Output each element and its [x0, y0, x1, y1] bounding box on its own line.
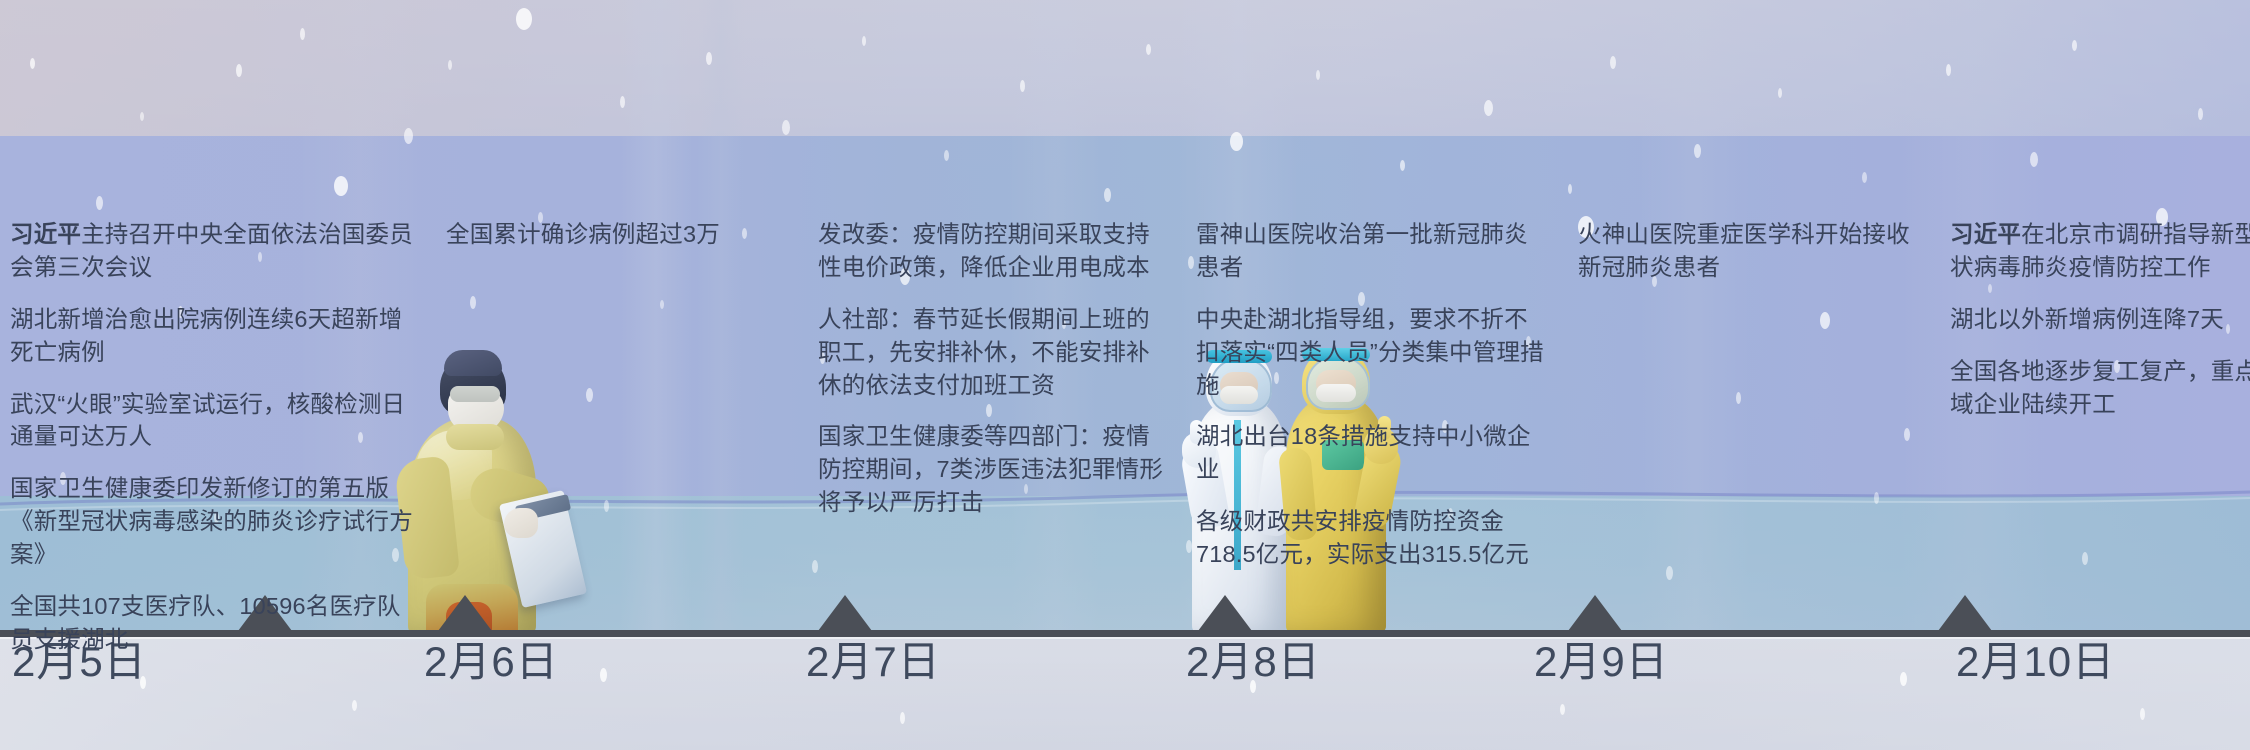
entry-text: 人社部：春节延长假期间上班的职工，先安排补休，不能安排补休的依法支付加班工资 — [818, 306, 1150, 398]
timeline-entry: 中央赴湖北指导组，要求不折不扣落实“四类人员”分类集中管理措施 — [1196, 303, 1544, 402]
timeline-column-feb-7: 发改委：疫情防控期间采取支持性电价政策，降低企业用电成本 人社部：春节延长假期间… — [818, 218, 1170, 519]
timeline-column-feb-8: 雷神山医院收治第一批新冠肺炎患者 中央赴湖北指导组，要求不折不扣落实“四类人员”… — [1196, 218, 1544, 571]
timeline-entry: 火神山医院重症医学科开始接收新冠肺炎患者 — [1578, 218, 1926, 284]
entry-text: 武汉“火眼”实验室试运行，核酸检测日通量可达万人 — [10, 391, 405, 450]
date-label-feb-7[interactable]: 2月7日 — [806, 641, 941, 683]
entry-text: 湖北出台18条措施支持中小微企业 — [1196, 423, 1531, 482]
entry-text: 火神山医院重症医学科开始接收新冠肺炎患者 — [1578, 221, 1910, 280]
date-label-feb-9[interactable]: 2月9日 — [1534, 641, 1669, 683]
entry-text: 全国各地逐步复工复产，重点领域企业陆续开工 — [1950, 358, 2250, 417]
entry-text: 国家卫生健康委印发新修订的第五版《新型冠状病毒感染的肺炎诊疗试行方案》 — [10, 475, 413, 567]
timeline-tick-marker — [1568, 595, 1622, 631]
entry-text: 国家卫生健康委等四部门：疫情防控期间，7类涉医违法犯罪情形将予以严厉打击 — [818, 423, 1163, 515]
entry-text: 湖北以外新增病例连降7天 — [1950, 306, 2224, 332]
timeline-tick-marker — [438, 595, 492, 631]
timeline-entry: 发改委：疫情防控期间采取支持性电价政策，降低企业用电成本 — [818, 218, 1170, 284]
entry-text: 中央赴湖北指导组，要求不折不扣落实“四类人员”分类集中管理措施 — [1196, 306, 1544, 398]
timeline-tick-marker — [1938, 595, 1992, 631]
timeline-tick-marker — [818, 595, 872, 631]
timeline-entry: 国家卫生健康委印发新修订的第五版《新型冠状病毒感染的肺炎诊疗试行方案》 — [10, 472, 416, 571]
timeline-entry: 全国累计确诊病例超过3万 — [446, 218, 806, 251]
entry-text: 发改委：疫情防控期间采取支持性电价政策，降低企业用电成本 — [818, 221, 1150, 280]
figure-medical-worker-reading — [392, 346, 582, 636]
entry-lead: 习近平 — [1950, 221, 2021, 247]
date-label-feb-6[interactable]: 2月6日 — [424, 641, 559, 683]
timeline-entry: 国家卫生健康委等四部门：疫情防控期间，7类涉医违法犯罪情形将予以严厉打击 — [818, 420, 1170, 519]
timeline-column-feb-9: 火神山医院重症医学科开始接收新冠肺炎患者 — [1578, 218, 1926, 284]
timeline-tick-marker — [1198, 595, 1252, 631]
timeline-column-feb-10: 习近平在北京市调研指导新型冠状病毒肺炎疫情防控工作 湖北以外新增病例连降7天 全… — [1950, 218, 2250, 420]
infographic-canvas: 2月5日 2月6日 2月7日 2月8日 2月9日 2月10日 习近平主持召开中央… — [0, 0, 2250, 750]
timeline-entry: 湖北出台18条措施支持中小微企业 — [1196, 420, 1544, 486]
haze-column — [1640, 0, 1750, 636]
timeline-entry: 人社部：春节延长假期间上班的职工，先安排补休，不能安排补休的依法支付加班工资 — [818, 303, 1170, 402]
haze-column — [620, 0, 692, 636]
timeline-entry: 湖北新增治愈出院病例连续6天超新增死亡病例 — [10, 303, 416, 369]
date-label-feb-10[interactable]: 2月10日 — [1956, 641, 2115, 683]
timeline-entry: 全国共107支医疗队、10596名医疗队员支援湖北 — [10, 590, 416, 656]
entry-lead: 习近平 — [10, 221, 81, 247]
entry-text: 湖北新增治愈出院病例连续6天超新增死亡病例 — [10, 306, 402, 365]
haze-column — [698, 0, 744, 636]
timeline-entry: 习近平主持召开中央全面依法治国委员会第三次会议 — [10, 218, 416, 284]
timeline-column-feb-6: 全国累计确诊病例超过3万 — [446, 218, 806, 251]
timeline-entry: 各级财政共安排疫情防控资金718.5亿元，实际支出315.5亿元 — [1196, 505, 1544, 571]
timeline-entry: 雷神山医院收治第一批新冠肺炎患者 — [1196, 218, 1544, 284]
entry-text: 全国累计确诊病例超过3万 — [446, 221, 720, 247]
timeline-entry: 全国各地逐步复工复产，重点领域企业陆续开工 — [1950, 355, 2250, 421]
timeline-entry: 湖北以外新增病例连降7天 — [1950, 303, 2250, 336]
entry-text: 雷神山医院收治第一批新冠肺炎患者 — [1196, 221, 1528, 280]
entry-text: 全国共107支医疗队、10596名医疗队员支援湖北 — [10, 593, 401, 652]
timeline-column-feb-5: 习近平主持召开中央全面依法治国委员会第三次会议 湖北新增治愈出院病例连续6天超新… — [10, 218, 416, 656]
timeline-entry: 习近平在北京市调研指导新型冠状病毒肺炎疫情防控工作 — [1950, 218, 2250, 284]
date-label-feb-8[interactable]: 2月8日 — [1186, 641, 1321, 683]
entry-text: 各级财政共安排疫情防控资金718.5亿元，实际支出315.5亿元 — [1196, 508, 1529, 567]
timeline-entry: 武汉“火眼”实验室试运行，核酸检测日通量可达万人 — [10, 388, 416, 454]
